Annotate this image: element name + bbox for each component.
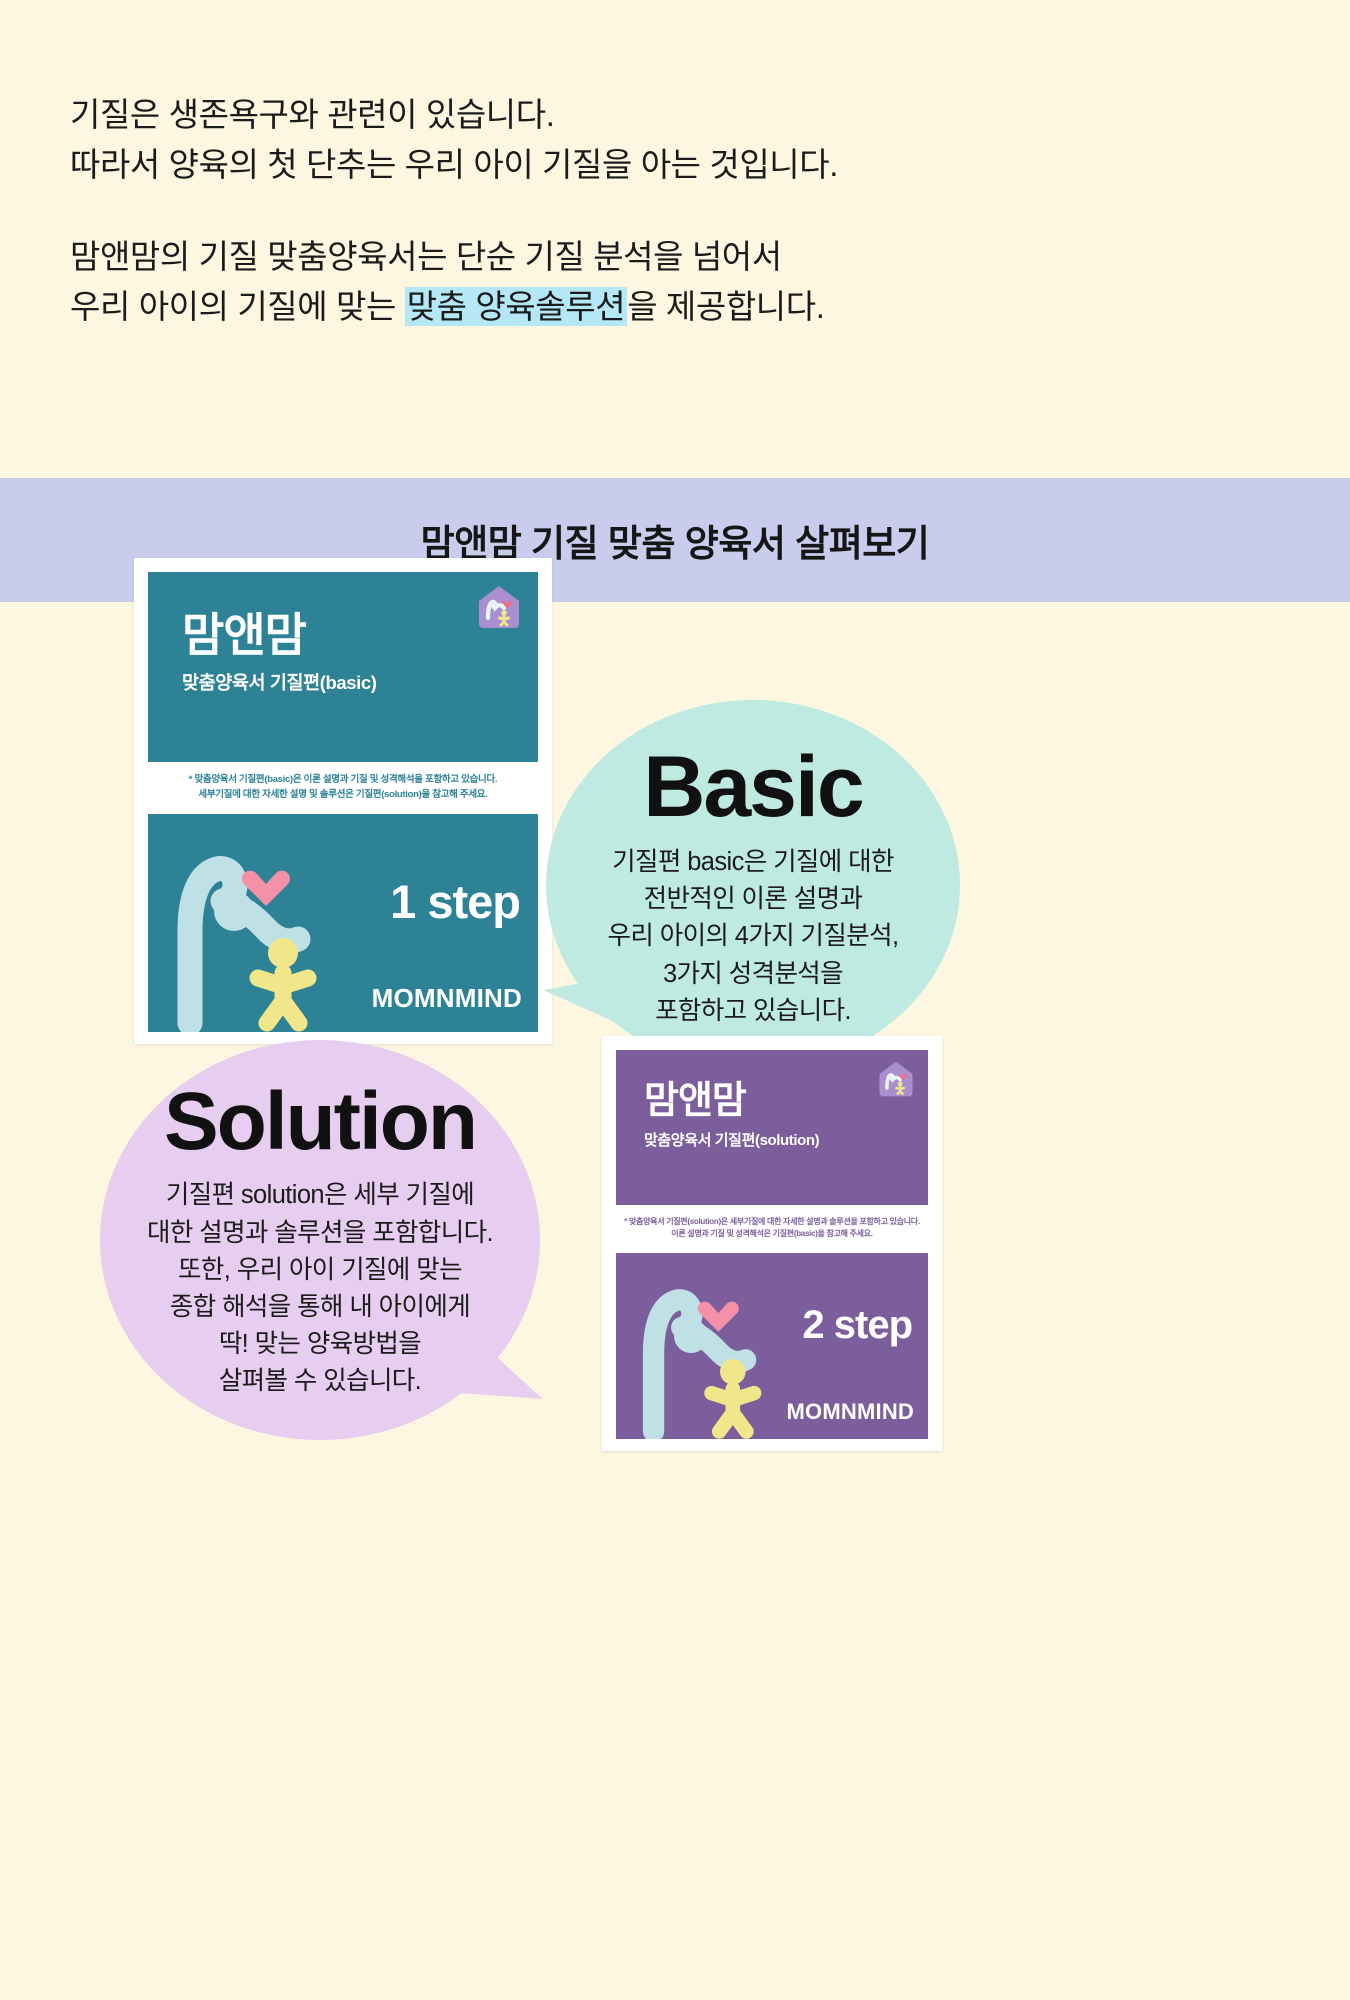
- basic-speech-bubble: Basic 기질편 basic은 기질에 대한 전반적인 이론 설명과 우리 아…: [546, 700, 960, 1070]
- basic-bubble-line-4: 3가지 성격분석을: [608, 956, 899, 993]
- basic-card-cover-top: 맘앤맘 맞춤양육서 기질편(basic): [148, 572, 538, 762]
- solution-brand-title: 맘앤맘: [644, 1082, 819, 1120]
- basic-logo-wordmark: MOMNMIND: [372, 983, 522, 1014]
- basic-step-label: 1 step: [390, 874, 520, 929]
- solution-bubble-body: Solution 기질편 solution은 세부 기질에 대한 설명과 솔루션…: [100, 1040, 540, 1440]
- intro-line-1: 기질은 생존욕구와 관련이 있습니다.: [70, 90, 1070, 140]
- basic-brand-title: 맘앤맘: [182, 612, 377, 658]
- basic-fineprint: * 맞춤양육서 기질편(basic)은 이론 설명과 기질 및 성격해석을 포함…: [148, 771, 538, 805]
- intro-line-2: 따라서 양육의 첫 단추는 우리 아이 기질을 아는 것입니다.: [70, 140, 1070, 190]
- basic-cover-subtitle: 맞춤양육서 기질편(basic): [182, 669, 377, 695]
- basic-bubble-line-2: 전반적인 이론 설명과: [608, 881, 899, 918]
- solution-logo-wordmark: MOMNMIND: [787, 1399, 914, 1425]
- basic-fineprint-line-1: * 맞춤양육서 기질편(basic)은 이론 설명과 기질 및 성격해석을 포함…: [154, 773, 532, 788]
- intro-line-4-after: 을 제공합니다.: [627, 288, 824, 325]
- solution-card-cover-bottom: 2 step MOMNMIND: [616, 1253, 928, 1439]
- solution-fineprint-line-1: * 맞춤양육서 기질편(solution)은 세부기질에 대한 자세한 설명과 …: [622, 1216, 922, 1228]
- basic-book-card[interactable]: 맘앤맘 맞춤양육서 기질편(basic) * 맞춤양육서 기질편(basic)은…: [134, 558, 552, 1044]
- solution-cover-subtitle: 맞춤양육서 기질편(solution): [644, 1129, 819, 1150]
- solution-fineprint-line-2: 이론 설명과 기질 및 성격해석은 기질편(basic)을 참고해 주세요.: [622, 1228, 922, 1240]
- intro-line-3: 맘앤맘의 기질 맞춤양육서는 단순 기질 분석을 넘어서: [70, 232, 1070, 282]
- basic-cover-titles: 맘앤맘 맞춤양육서 기질편(basic): [148, 572, 377, 762]
- basic-bubble-heading: Basic: [643, 744, 863, 830]
- intro-paragraph-gap: [70, 190, 1070, 232]
- solution-bubble-line-2: 대한 설명과 솔루션을 포함합니다.: [147, 1215, 493, 1252]
- solution-step-label: 2 step: [802, 1303, 912, 1348]
- solution-bubble-line-6: 살펴볼 수 있습니다.: [147, 1363, 493, 1400]
- solution-card-cover-top: 맘앤맘 맞춤양육서 기질편(solution): [616, 1050, 928, 1205]
- intro-text-block: 기질은 생존욕구와 관련이 있습니다. 따라서 양육의 첫 단추는 우리 아이 …: [70, 90, 1070, 333]
- solution-book-card[interactable]: 맘앤맘 맞춤양육서 기질편(solution) * 맞춤양육서 기질편(solu…: [602, 1036, 942, 1451]
- solution-bubble-line-1: 기질편 solution은 세부 기질에: [147, 1177, 493, 1214]
- basic-bubble-text: 기질편 basic은 기질에 대한 전반적인 이론 설명과 우리 아이의 4가지…: [608, 844, 899, 1030]
- solution-bubble-line-5: 딱! 맞는 양육방법을: [147, 1326, 493, 1363]
- solution-speech-bubble: Solution 기질편 solution은 세부 기질에 대한 설명과 솔루션…: [100, 1040, 540, 1440]
- intro-line-4-before: 우리 아이의 기질에 맞는: [70, 288, 405, 325]
- basic-bubble-body: Basic 기질편 basic은 기질에 대한 전반적인 이론 설명과 우리 아…: [546, 700, 960, 1070]
- solution-cover-titles: 맘앤맘 맞춤양육서 기질편(solution): [616, 1050, 819, 1205]
- parent-child-figure-icon: [160, 823, 390, 1032]
- infographic-page: 기질은 생존욕구와 관련이 있습니다. 따라서 양육의 첫 단추는 우리 아이 …: [0, 0, 1350, 2000]
- highlighted-phrase: 맞춤 양육솔루션: [405, 287, 628, 326]
- house-logo-icon: [877, 1060, 915, 1098]
- solution-bubble-heading: Solution: [164, 1081, 476, 1163]
- basic-bubble-line-5: 포함하고 있습니다.: [608, 993, 899, 1030]
- basic-bubble-line-3: 우리 아이의 4가지 기질분석,: [608, 918, 899, 955]
- solution-bubble-line-3: 또한, 우리 아이 기질에 맞는: [147, 1252, 493, 1289]
- basic-bubble-line-1: 기질편 basic은 기질에 대한: [608, 844, 899, 881]
- basic-card-cover-bottom: 1 step MOMNMIND: [148, 814, 538, 1032]
- intro-line-4: 우리 아이의 기질에 맞는 맞춤 양육솔루션을 제공합니다.: [70, 282, 1070, 332]
- basic-fineprint-line-2: 세부기질에 대한 자세한 설명 및 솔루션은 기질편(solution)을 참고…: [154, 788, 532, 803]
- solution-bubble-line-4: 종합 해석을 통해 내 아이에게: [147, 1289, 493, 1326]
- solution-bubble-text: 기질편 solution은 세부 기질에 대한 설명과 솔루션을 포함합니다. …: [147, 1177, 493, 1400]
- solution-fineprint: * 맞춤양육서 기질편(solution)은 세부기질에 대한 자세한 설명과 …: [616, 1214, 928, 1244]
- house-logo-icon: [476, 584, 522, 630]
